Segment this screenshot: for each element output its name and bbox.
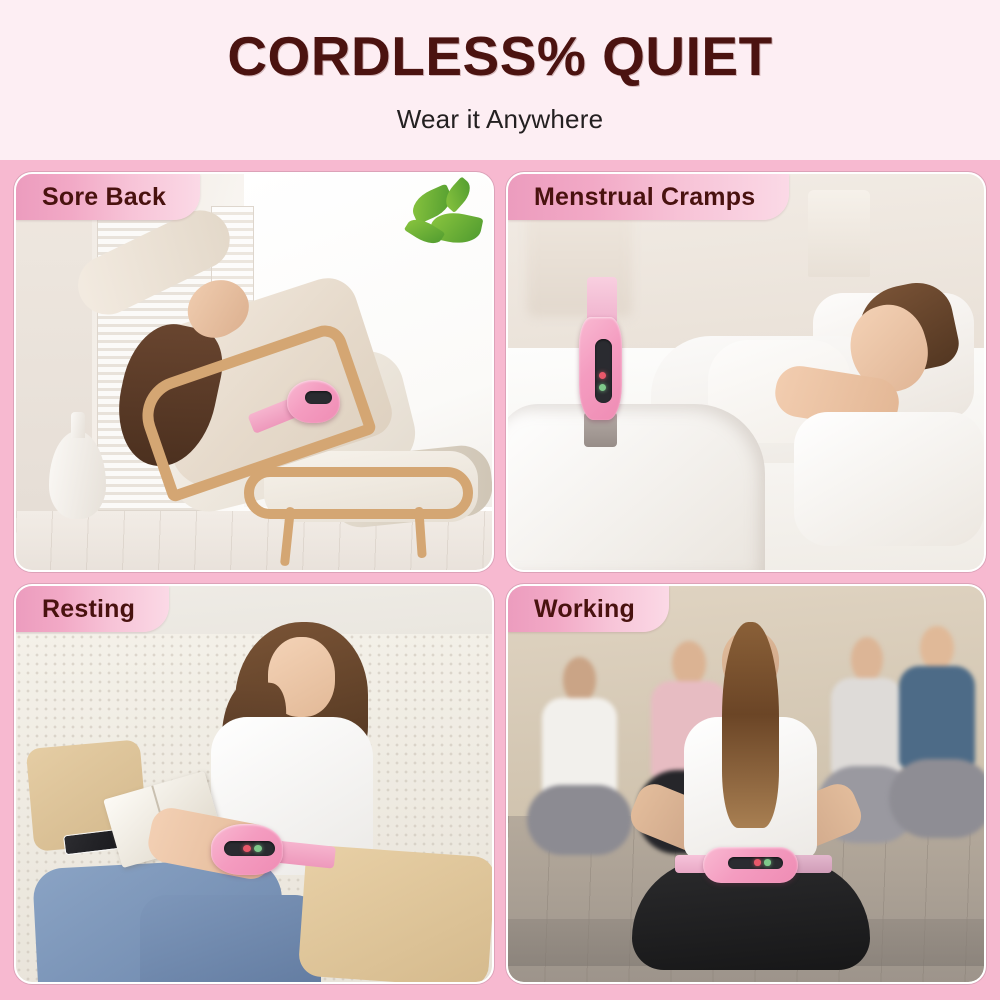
panel-resting[interactable]: Resting <box>14 584 494 984</box>
panel-badge-resting: Resting <box>16 586 169 632</box>
device-screen <box>728 857 783 869</box>
device-screen <box>224 841 275 856</box>
background-participant <box>889 626 984 848</box>
indicator-green <box>599 384 606 391</box>
panel-menstrual-cramps[interactable]: Menstrual Cramps <box>506 172 986 572</box>
indicator-red <box>754 859 761 865</box>
page-title: CORDLESS% QUIET <box>227 28 772 86</box>
scene-image-sore-back <box>16 174 492 570</box>
feature-panel-grid: Sore Back Menstrual Cra <box>0 160 1000 1000</box>
pillow-front <box>794 412 984 547</box>
massager-device <box>579 317 622 420</box>
indicator-red <box>599 372 606 379</box>
duvet <box>508 404 765 570</box>
person-ponytail <box>722 622 779 828</box>
scene-image-resting <box>16 586 492 982</box>
plant-icon <box>406 182 487 269</box>
banner-header: CORDLESS% QUIET Wear it Anywhere <box>0 0 1000 160</box>
panel-badge-working: Working <box>508 586 669 632</box>
device-screen <box>305 391 332 404</box>
panel-badge-sore-back: Sore Back <box>16 174 200 220</box>
massager-device <box>211 824 282 875</box>
massager-device <box>287 380 339 424</box>
indicator-green <box>254 845 262 852</box>
background-participant <box>527 657 632 863</box>
scene-image-working <box>508 586 984 982</box>
massager-device <box>703 847 798 883</box>
device-screen <box>595 339 612 403</box>
scene-image-menstrual-cramps <box>508 174 984 570</box>
indicator-green <box>764 859 771 865</box>
rattan-chair-arm <box>244 467 472 518</box>
indicator-red <box>243 845 251 852</box>
panel-working[interactable]: Working <box>506 584 986 984</box>
person-jeans-lower <box>140 895 321 982</box>
panel-sore-back[interactable]: Sore Back <box>14 172 494 572</box>
lamp <box>808 190 870 277</box>
page-subtitle: Wear it Anywhere <box>397 104 603 135</box>
panel-badge-menstrual-cramps: Menstrual Cramps <box>508 174 789 220</box>
